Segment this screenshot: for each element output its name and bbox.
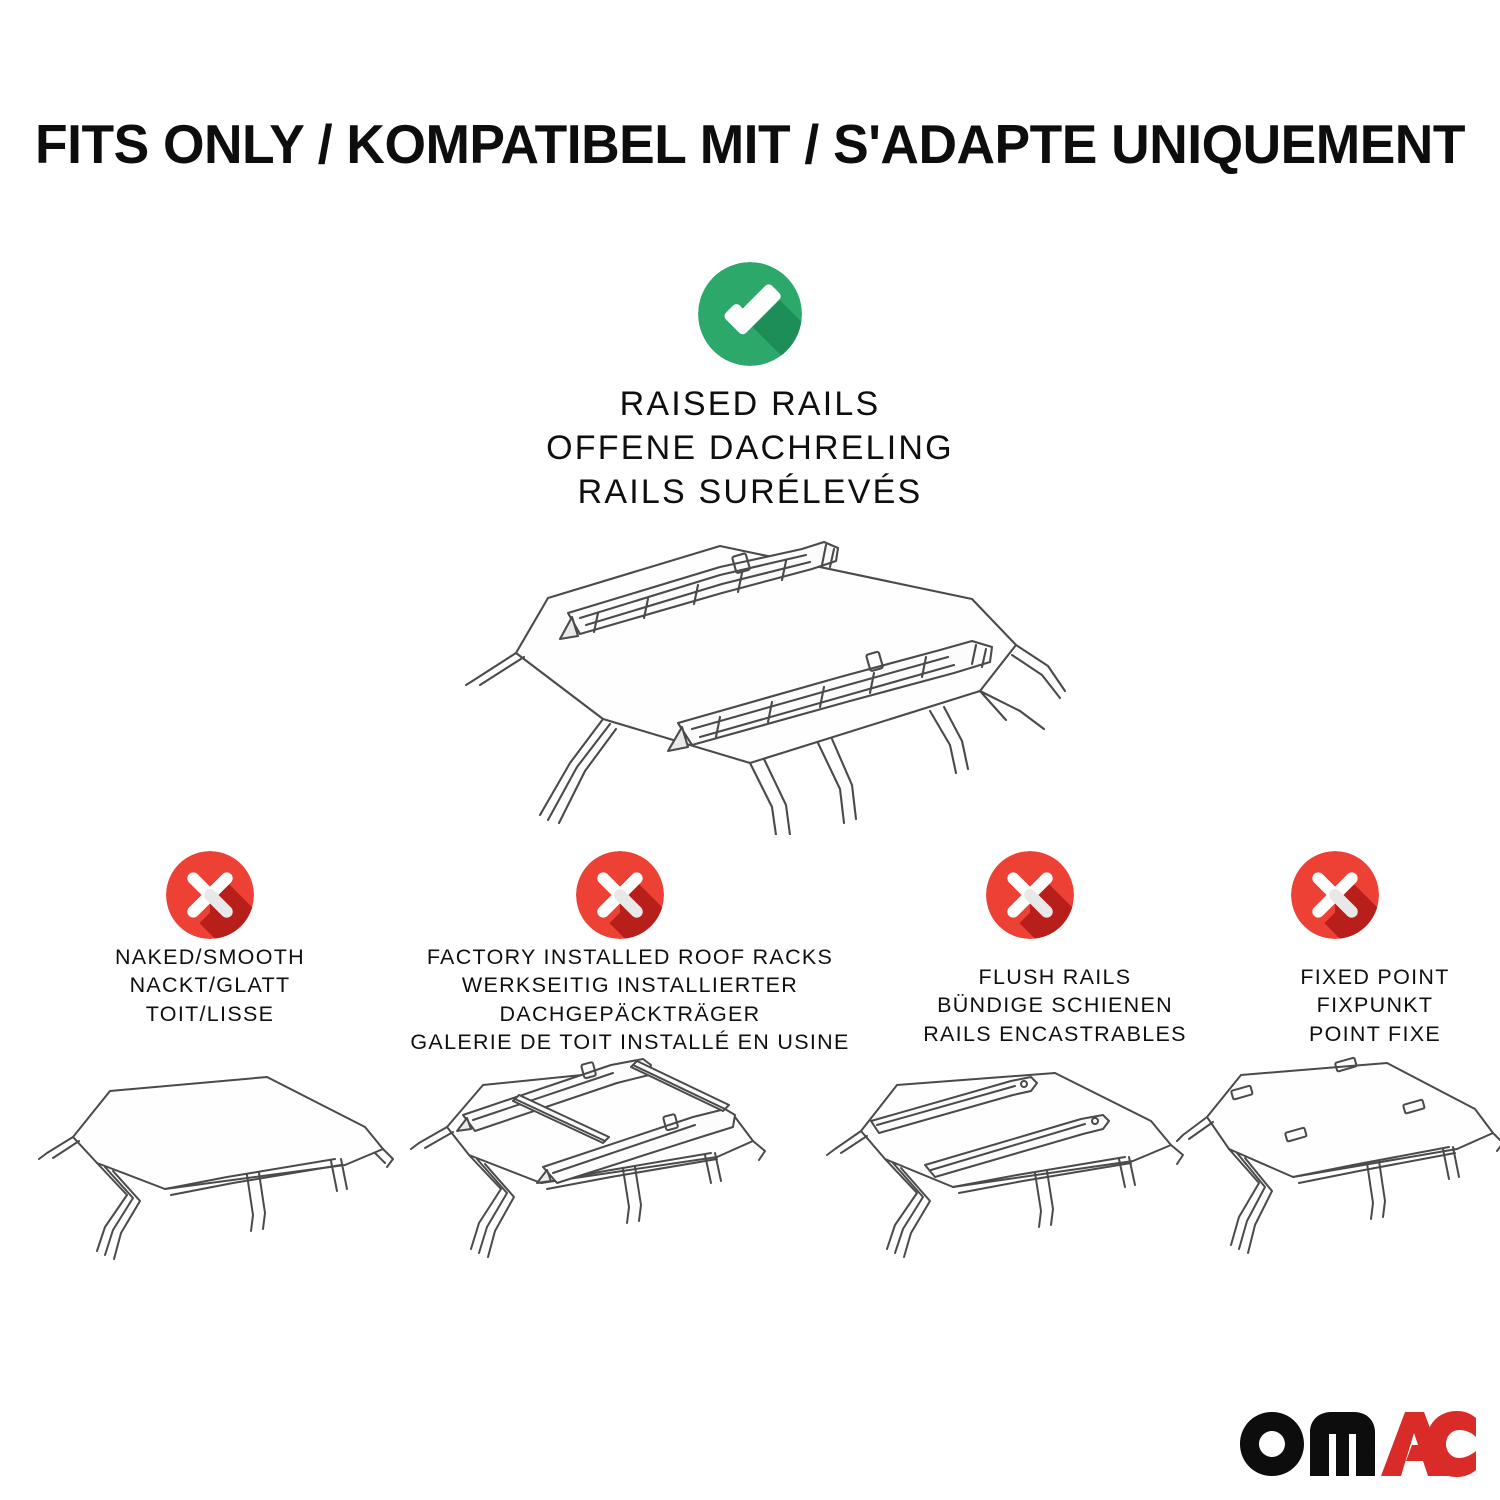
incompatible-label-group-fixed-point: FIXED POINT FIXPUNKT POINT FIXE (1245, 963, 1500, 1048)
label-line-1: FLUSH RAILS (860, 963, 1250, 991)
label-line-2: BÜNDIGE SCHIENEN (860, 991, 1250, 1019)
car-roof-naked-smooth-illustration (35, 1055, 410, 1290)
car-roof-raised-rails-illustration (420, 505, 1100, 835)
cross-circle-icon (166, 851, 254, 939)
label-line-1: NAKED/SMOOTH (40, 943, 380, 971)
label-line-3: POINT FIXE (1245, 1020, 1500, 1048)
incompatible-label-group-factory-rack: FACTORY INSTALLED ROOF RACKS WERKSEITIG … (395, 943, 865, 1057)
car-roof-fixed-point-illustration (1175, 1055, 1500, 1290)
label-line-1: FACTORY INSTALLED ROOF RACKS (395, 943, 865, 971)
label-line-3: TOIT/LISSE (40, 1000, 380, 1028)
label-line-4: GALERIE DE TOIT INSTALLÉ EN USINE (395, 1028, 865, 1056)
cross-circle-icon (1291, 851, 1379, 939)
page-title: FITS ONLY / KOMPATIBEL MIT / S'ADAPTE UN… (23, 112, 1478, 176)
label-line-1: FIXED POINT (1245, 963, 1500, 991)
label-line-2: FIXPUNKT (1245, 991, 1500, 1019)
compatible-label-group: RAISED RAILS OFFENE DACHRELING RAILS SUR… (0, 382, 1500, 515)
logo-letter-m (1310, 1412, 1375, 1476)
cross-circle-icon (986, 851, 1074, 939)
incompatible-label-group-naked: NAKED/SMOOTH NACKT/GLATT TOIT/LISSE (40, 943, 380, 1028)
car-roof-flush-rails-illustration (825, 1055, 1215, 1290)
compatible-label-en: RAISED RAILS (0, 382, 1500, 426)
car-roof-factory-rack-illustration (405, 1055, 785, 1290)
label-line-2: WERKSEITIG INSTALLIERTER (395, 971, 865, 999)
cross-circle-icon (576, 851, 664, 939)
compatible-label-de: OFFENE DACHRELING (0, 426, 1500, 470)
label-line-3: RAILS ENCASTRABLES (860, 1020, 1250, 1048)
label-line-2: NACKT/GLATT (40, 971, 380, 999)
logo-letter-o (1240, 1412, 1304, 1476)
omac-logo (1238, 1410, 1478, 1478)
label-line-3: DACHGEPÄCKTRÄGER (395, 1000, 865, 1028)
check-circle-icon (698, 262, 802, 366)
incompatible-label-group-flush-rails: FLUSH RAILS BÜNDIGE SCHIENEN RAILS ENCAS… (860, 963, 1250, 1048)
